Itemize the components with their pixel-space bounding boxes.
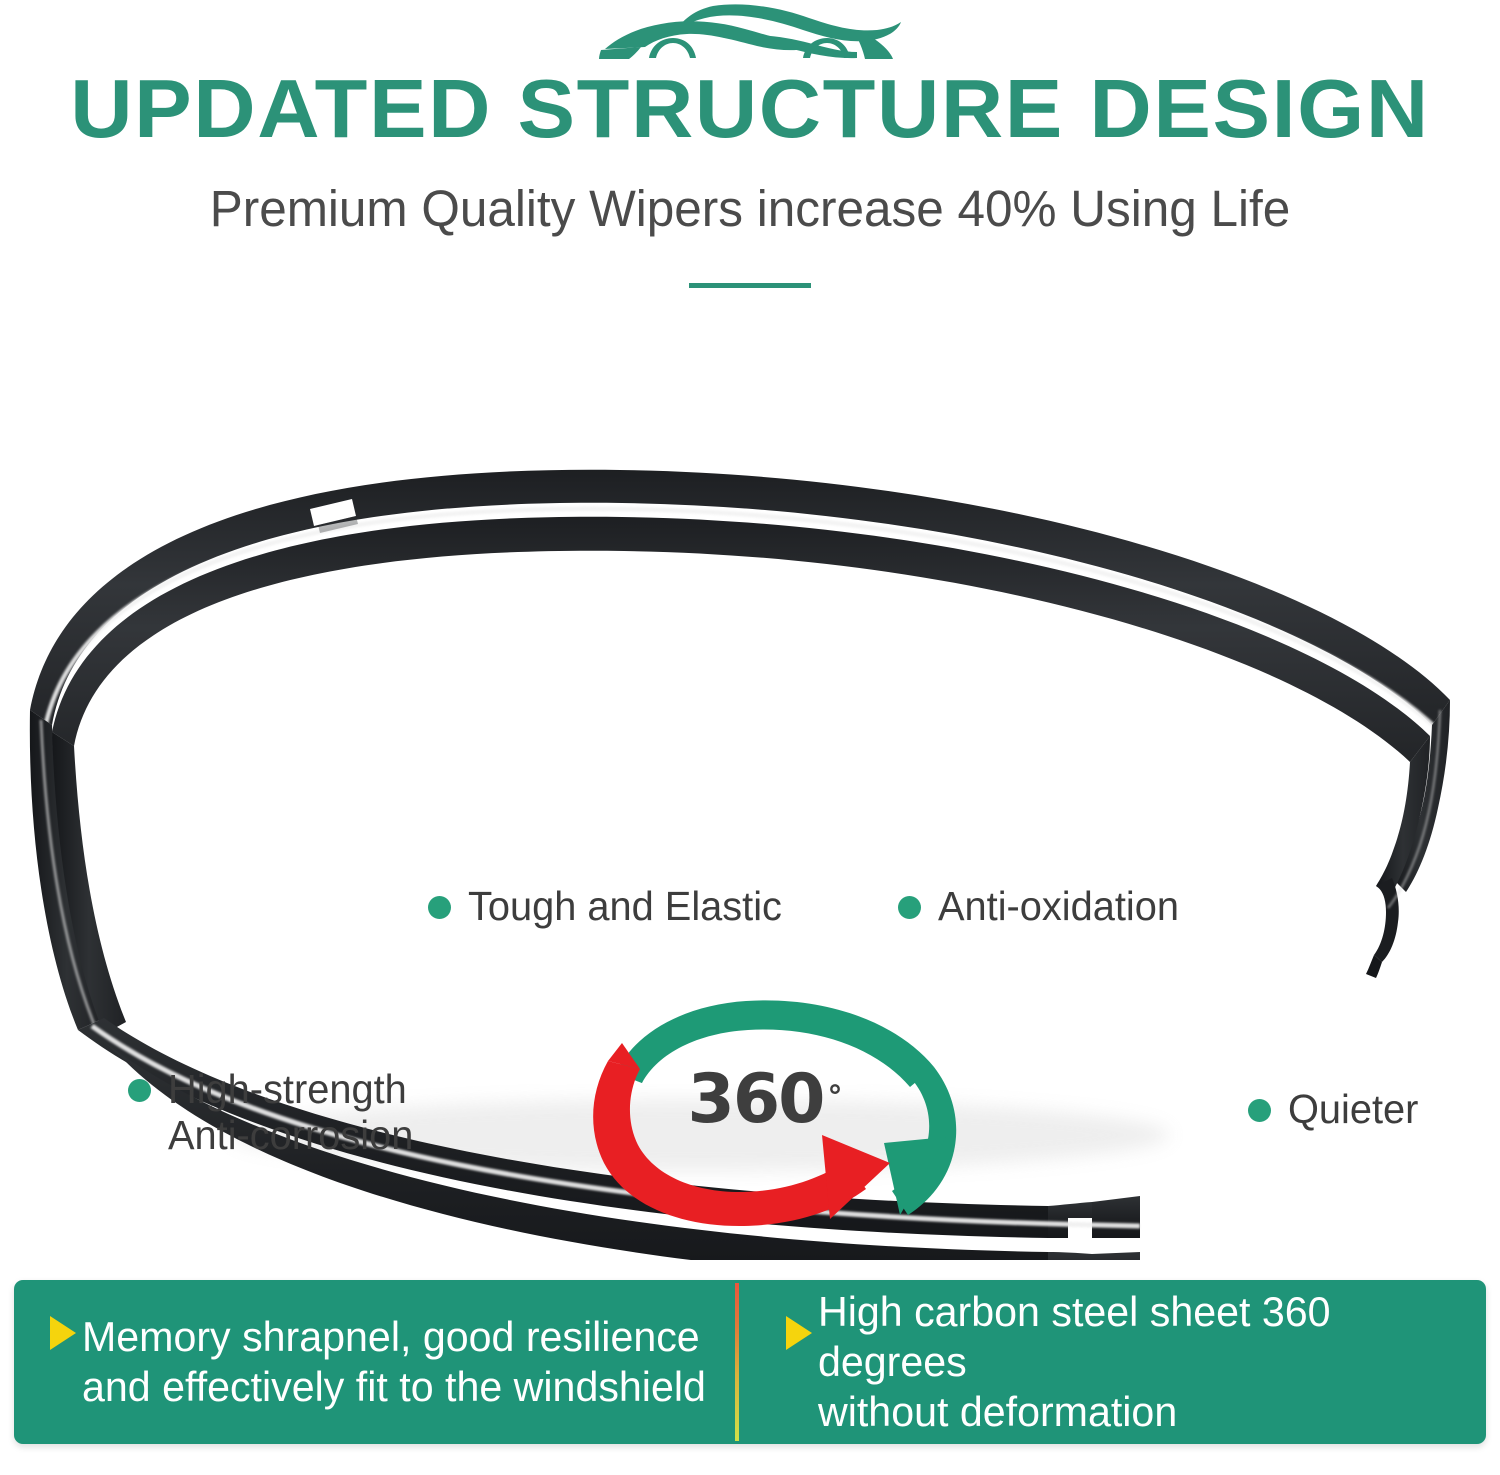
bullet-dot-icon [428,896,451,919]
banner-item-text: High carbon steel sheet 360 degrees with… [818,1287,1451,1437]
banner-item-memory-shrapnel: Memory shrapnel, good resilience and eff… [14,1280,750,1444]
bottom-feature-banner: Memory shrapnel, good resilience and eff… [14,1280,1486,1444]
bullet-dot-icon [898,896,921,919]
feature-label-text: High-strength Anti-corrosion [168,1066,413,1158]
page-title: UPDATED STRUCTURE DESIGN [0,64,1500,154]
feature-label-text: Anti-oxidation [938,883,1179,929]
red-arrow-icon [593,1043,890,1226]
car-silhouette-icon [595,2,905,64]
feature-label-high-strength-anti-corrosion: High-strength Anti-corrosion [128,1066,421,1158]
banner-item-text: Memory shrapnel, good resilience and eff… [82,1312,706,1412]
feature-label-quieter: Quieter [1248,1086,1422,1132]
banner-item-high-carbon-steel: High carbon steel sheet 360 degrees with… [750,1280,1486,1444]
bullet-dot-icon [128,1079,151,1102]
triangle-bullet-icon [786,1316,812,1350]
triangle-bullet-icon [50,1316,76,1350]
product-illustration: Tough and Elastic Anti-oxidation High-st… [0,300,1500,1260]
bullet-dot-icon [1248,1099,1271,1122]
title-divider [689,283,811,288]
feature-label-tough-and-elastic: Tough and Elastic [428,883,792,929]
feature-label-anti-oxidation: Anti-oxidation [898,883,1186,929]
banner-divider [735,1283,739,1441]
rotation-360-badge: 360° [578,995,964,1227]
feature-label-text: Tough and Elastic [468,883,782,929]
header: UPDATED STRUCTURE DESIGN Premium Quality… [0,0,1500,310]
feature-label-text: Quieter [1288,1086,1418,1132]
page-subtitle: Premium Quality Wipers increase 40% Usin… [23,178,1478,240]
